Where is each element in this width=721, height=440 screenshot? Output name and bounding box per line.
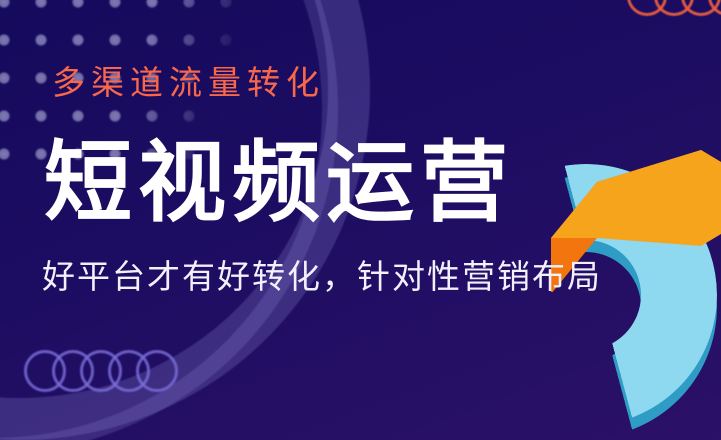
banner-subline: 好平台才有好转化，针对性营销布局 [42,258,602,299]
banner-headline: 短视频运营 [44,136,514,229]
bottom-ring-group [24,350,164,392]
promo-banner: 多渠道流量转化 短视频运营 好平台才有好转化，针对性营销布局 [0,0,721,440]
corner-ring-group [627,0,721,16]
banner-kicker: 多渠道流量转化 [52,66,325,99]
bottom-ring-5-icon [136,350,178,392]
orange-top-face [551,150,721,246]
